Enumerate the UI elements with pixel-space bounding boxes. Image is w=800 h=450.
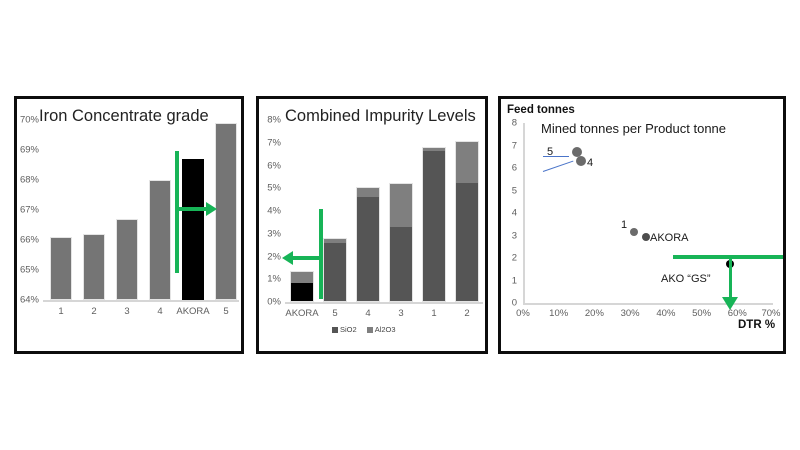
bar-impurity-4: [356, 187, 380, 302]
legend-label-al2o3: Al2O3: [375, 325, 396, 334]
chart-panel-iron-concentrate-grade: Iron Concentrate grade 70% 69% 68% 67% 6…: [14, 96, 244, 354]
data-point-label-1: 1: [621, 219, 627, 231]
bar-iron-1: [50, 237, 72, 300]
xtick-feed-0: 0%: [516, 308, 530, 319]
bar-segment-sio2-5: [324, 243, 346, 301]
bar-impurity-5: [323, 238, 347, 302]
ytick-imp-1: 1%: [259, 274, 281, 285]
annotation-arrow-left-impurity: [282, 251, 293, 265]
ytick-iron-67: 67%: [17, 205, 39, 216]
ytick-feed-1: 1: [501, 275, 517, 286]
annotation-horizontal-bar-impurity: [292, 256, 322, 260]
bar-impurity-2: [455, 141, 479, 303]
xtick-iron-5: 5: [223, 306, 228, 317]
legend-swatch-al2o3-icon: [367, 327, 373, 333]
slide-canvas: Iron Concentrate grade 70% 69% 68% 67% 6…: [0, 0, 800, 450]
ytick-iron-66: 66%: [17, 235, 39, 246]
bar-segment-sio2-3: [390, 227, 412, 301]
ytick-feed-7: 7: [501, 140, 517, 151]
chart-panel-combined-impurity-levels: Combined Impurity Levels 8% 7% 6% 5% 4% …: [256, 96, 488, 354]
legend-label-sio2: SiO2: [340, 325, 357, 334]
y-axis-line-feed: [523, 123, 525, 304]
ytick-feed-0: 0: [501, 298, 517, 309]
connector-line-lower: [543, 161, 574, 172]
bar-segment-sio2-2: [456, 183, 478, 301]
xtick-feed-70: 70%: [761, 308, 780, 319]
chart-title-iron-grade: Iron Concentrate grade: [39, 107, 209, 126]
ytick-imp-5: 5%: [259, 183, 281, 194]
ytick-iron-68: 68%: [17, 175, 39, 186]
xtick-iron-akora: AKORA: [176, 306, 209, 317]
x-axis-line-impurity: [285, 302, 483, 304]
bar-impurity-1: [422, 147, 446, 302]
annotation-horizontal-bar-iron: [175, 207, 207, 211]
chart-panel-feed-tonnes: Feed tonnes Mined tonnes per Product ton…: [498, 96, 786, 354]
xtick-iron-3: 3: [124, 306, 129, 317]
ytick-feed-4: 4: [501, 208, 517, 219]
xtick-imp-1: 1: [431, 308, 436, 319]
ytick-imp-2: 2%: [259, 251, 281, 262]
annotation-vertical-bar-iron: [175, 151, 179, 273]
ytick-iron-69: 69%: [17, 145, 39, 156]
xtick-imp-4: 4: [365, 308, 370, 319]
data-point-label-5: 5: [547, 146, 553, 158]
ytick-feed-8: 8: [501, 118, 517, 129]
xtick-feed-20: 20%: [585, 308, 604, 319]
chart-note-mined-tonnes: Mined tonnes per Product tonne: [541, 121, 726, 136]
legend-item-al2o3: Al2O3: [367, 325, 396, 334]
bar-iron-5: [215, 123, 237, 300]
ytick-imp-6: 6%: [259, 160, 281, 171]
ytick-feed-5: 5: [501, 185, 517, 196]
bar-iron-akora: [182, 159, 204, 300]
bar-impurity-akora: [290, 271, 314, 302]
xtick-feed-30: 30%: [621, 308, 640, 319]
xtick-imp-3: 3: [398, 308, 403, 319]
annotation-vertical-bar-feed: [729, 255, 733, 299]
data-point-1: [630, 228, 638, 236]
xtick-feed-50: 50%: [692, 308, 711, 319]
data-point-label-ako-gs: AKO “GS”: [661, 273, 711, 285]
ytick-iron-70: 70%: [17, 115, 39, 126]
data-point-5: [572, 147, 582, 157]
xtick-imp-5: 5: [332, 308, 337, 319]
ytick-imp-0: 0%: [259, 297, 281, 308]
ytick-imp-4: 4%: [259, 206, 281, 217]
ytick-feed-2: 2: [501, 253, 517, 264]
ytick-imp-8: 8%: [259, 115, 281, 126]
ytick-imp-7: 7%: [259, 137, 281, 148]
bar-iron-3: [116, 219, 138, 300]
xtick-feed-40: 40%: [656, 308, 675, 319]
x-axis-title-dtr: DTR %: [738, 319, 775, 331]
ytick-imp-3: 3%: [259, 228, 281, 239]
data-point-label-akora: AKORA: [650, 232, 689, 244]
x-axis-line-iron: [43, 300, 239, 302]
chart-title-impurity: Combined Impurity Levels: [285, 107, 476, 126]
xtick-imp-2: 2: [464, 308, 469, 319]
bar-segment-sio2-akora: [291, 283, 313, 301]
xtick-feed-10: 10%: [549, 308, 568, 319]
y-axis-title-feed-tonnes: Feed tonnes: [507, 104, 575, 116]
annotation-vertical-bar-impurity: [319, 209, 323, 299]
bar-segment-sio2-1: [423, 151, 445, 301]
legend-item-sio2: SiO2: [332, 325, 357, 334]
xtick-iron-1: 1: [58, 306, 63, 317]
xtick-iron-2: 2: [91, 306, 96, 317]
data-point-label-4: 4: [587, 157, 593, 169]
ytick-feed-3: 3: [501, 230, 517, 241]
legend-swatch-sio2-icon: [332, 327, 338, 333]
bar-impurity-3: [389, 183, 413, 302]
bar-iron-2: [83, 234, 105, 300]
xtick-imp-akora: AKORA: [285, 308, 318, 319]
xtick-feed-60: 60%: [728, 308, 747, 319]
xtick-iron-4: 4: [157, 306, 162, 317]
annotation-arrow-right-iron: [206, 202, 217, 216]
data-point-4: [576, 156, 586, 166]
data-point-akora: [642, 233, 650, 241]
bar-segment-sio2-4: [357, 197, 379, 301]
ytick-iron-65: 65%: [17, 265, 39, 276]
legend-impurity: SiO2 Al2O3: [332, 325, 396, 334]
ytick-feed-6: 6: [501, 163, 517, 174]
ytick-iron-64: 64%: [17, 295, 39, 306]
bar-iron-4: [149, 180, 171, 300]
